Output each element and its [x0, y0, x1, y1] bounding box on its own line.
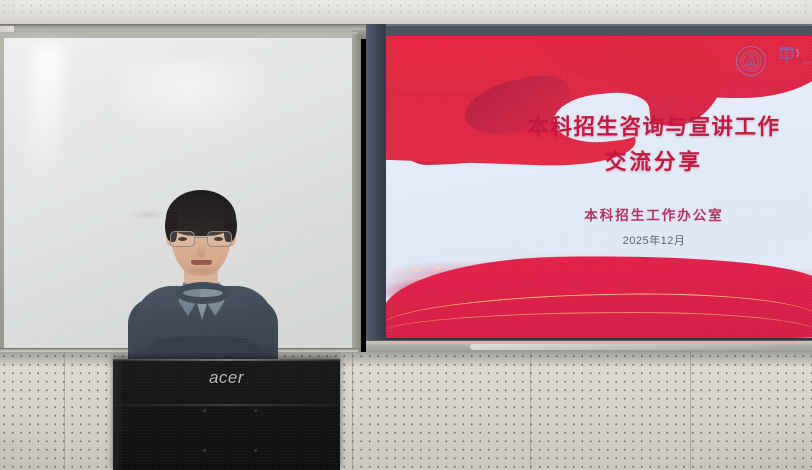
acer-brand-logo: acer	[113, 368, 340, 388]
monitor-screw	[254, 409, 257, 412]
monitor-screw	[203, 409, 206, 412]
eyeglass-bridge	[195, 237, 207, 238]
ceiling-perforation-texture	[0, 2, 812, 16]
wall-seam	[690, 352, 691, 470]
presenter	[128, 186, 278, 364]
display-screen[interactable]: Zho 本科招生咨询与宣讲工作 交流分享 本科招生工作办公室 2025年12月	[386, 36, 812, 338]
display-bezel-highlight	[470, 344, 770, 350]
display-bezel-left	[366, 24, 386, 344]
wall-seam	[530, 352, 531, 470]
presenter-nose	[197, 244, 205, 257]
slide-title: 本科招生咨询与宣讲工作 交流分享	[386, 110, 802, 180]
presenter-mouth	[191, 260, 212, 265]
presenter-chin-shadow	[183, 266, 221, 275]
eyeglass-lens-right	[207, 231, 232, 247]
wall-seam	[64, 352, 65, 470]
whiteboard-right-edge	[352, 34, 361, 354]
slide-date: 2025年12月	[386, 232, 802, 248]
ceiling-panel	[0, 0, 812, 26]
presentation-slide: Zho 本科招生咨询与宣讲工作 交流分享 本科招生工作办公室 2025年12月	[386, 36, 812, 338]
monitor-panel-seam	[115, 404, 338, 406]
slide-title-line-2: 交流分享	[506, 145, 802, 180]
slide-subtitle: 本科招生工作办公室	[386, 204, 802, 224]
university-wordmark-caption: Zho	[802, 60, 810, 65]
wall-seam	[352, 352, 353, 470]
monitor-screw	[254, 449, 257, 452]
presenter-sweater-neckline	[176, 282, 230, 304]
slide-title-line-1: 本科招生咨询与宣讲工作	[506, 110, 802, 145]
eyeglass-lens-left	[170, 231, 195, 247]
whiteboard-glare-soft	[120, 60, 290, 150]
university-seal-logo	[736, 46, 766, 76]
monitor-top-edge	[113, 359, 340, 361]
classroom-presentation-photo: Zho 本科招生咨询与宣讲工作 交流分享 本科招生工作办公室 2025年12月	[0, 0, 812, 470]
monitor-screw	[203, 449, 206, 452]
